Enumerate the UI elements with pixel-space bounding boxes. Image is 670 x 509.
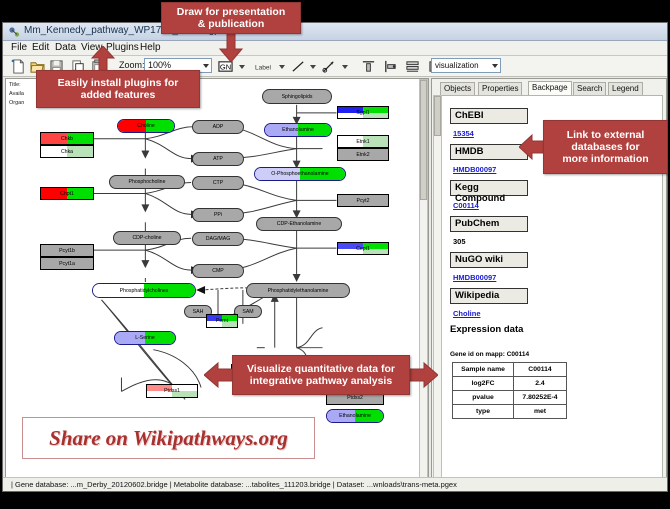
table-row: pvalue 7.80252E-4: [453, 391, 567, 405]
callout-visualize-left-arrow-icon: [204, 361, 234, 389]
expr-cell-label-3: type: [453, 405, 514, 419]
callout-plugins: Easily install plugins for added feature…: [36, 70, 200, 108]
expression-data-header: Expression data: [450, 324, 523, 335]
menu-data[interactable]: Data: [53, 42, 78, 53]
expr-cell-value-0: C00114: [514, 363, 567, 377]
node-phosphocholine[interactable]: Phosphocholine: [109, 175, 185, 189]
node-cdp-choline[interactable]: CDP-choline: [113, 231, 181, 245]
side-panel-vertical-scrollbar[interactable]: [433, 95, 442, 487]
line-dropdown-icon[interactable]: [310, 65, 316, 69]
title-bar: Mm_Kennedy_pathway_WP1771_45176.gpml: [3, 23, 667, 41]
callout-draw-line2: & publication: [198, 18, 265, 30]
expression-table: Sample name C00114 log2FC 2.4 pvalue 7.8…: [452, 362, 567, 419]
tab-legend[interactable]: Legend: [608, 82, 643, 95]
node-choline-top[interactable]: Choline: [117, 119, 175, 133]
callout-link-line3: more information: [562, 153, 648, 165]
pubchem-value: 305: [453, 237, 466, 246]
node-chkb[interactable]: Chkb: [40, 132, 94, 145]
align-left-icon[interactable]: [383, 59, 398, 74]
new-file-icon[interactable]: [11, 59, 26, 74]
svg-text:GN: GN: [220, 62, 231, 71]
align-top-icon[interactable]: [361, 59, 376, 74]
expr-cell-label-0: Sample name: [453, 363, 514, 377]
share-banner: Share on Wikipathways.org: [22, 417, 315, 459]
datanode-dropdown-icon[interactable]: [239, 65, 245, 69]
table-row: type met: [453, 405, 567, 419]
tab-properties[interactable]: Properties: [478, 82, 522, 95]
expr-cell-value-2: 7.80252E-4: [514, 391, 567, 405]
node-sgpl1[interactable]: Sgpl1: [337, 106, 389, 119]
node-chka[interactable]: Chka: [40, 145, 94, 158]
callout-draw-arrow-icon: [219, 33, 243, 63]
node-pemt[interactable]: Pemt: [206, 314, 238, 328]
node-adp[interactable]: ADP: [192, 120, 244, 134]
status-bar: | Gene database: ...m_Derby_20120602.bri…: [3, 477, 667, 491]
pathvisio-icon: [8, 26, 20, 38]
callout-visualize: Visualize quantitative data for integrat…: [232, 355, 410, 395]
node-pcyt1a[interactable]: Pcyt1a: [40, 257, 94, 270]
wikipedia-header: Wikipedia: [450, 288, 528, 304]
hmdb-link[interactable]: HMDB00097: [453, 165, 496, 174]
screenshot-root: Mm_Kennedy_pathway_WP1771_45176.gpml Fil…: [0, 0, 670, 509]
canvas-label-availability: Availa: [9, 91, 24, 97]
table-row: log2FC 2.4: [453, 377, 567, 391]
label-dropdown-icon[interactable]: [279, 65, 285, 69]
chebi-link[interactable]: 15354: [453, 129, 474, 138]
canvas-vscroll-thumb[interactable]: [420, 80, 427, 200]
callout-draw: Draw for presentation & publication: [161, 2, 301, 34]
node-sphingolipids[interactable]: Sphingolipids: [262, 89, 332, 104]
node-o-phosphoethanolamine[interactable]: O-Phosphoethanolamine: [254, 167, 346, 181]
node-ppi[interactable]: PPi: [192, 208, 244, 222]
node-ethanolamine-top[interactable]: Ethanolamine: [264, 123, 332, 137]
visualization-chevron-down-icon[interactable]: [492, 64, 498, 68]
node-etnk2[interactable]: Etnk2: [337, 148, 389, 161]
zoom-label: Zoom:: [119, 60, 145, 70]
canvas-label-title: Title:: [9, 82, 21, 88]
node-ethanolamine-bottom[interactable]: Ethanolamine: [326, 409, 384, 423]
callout-visualize-line2: integrative pathway analysis: [250, 375, 392, 387]
gene-id-on-mapp: Gene id on mapp: C00114: [450, 351, 529, 358]
share-banner-text: Share on Wikipathways.org: [49, 426, 288, 451]
visualization-value: visualization: [435, 61, 479, 70]
node-dagmag[interactable]: DAG/MAG: [192, 232, 244, 246]
expr-cell-label-2: pvalue: [453, 391, 514, 405]
table-row: Sample name C00114: [453, 363, 567, 377]
node-l-serine-left[interactable]: L-Serine: [114, 331, 176, 345]
callout-plugins-line2: added features: [81, 89, 156, 101]
chebi-header: ChEBI: [450, 108, 528, 124]
side-panel-vscroll-thumb[interactable]: [434, 96, 441, 136]
stack-icon[interactable]: [405, 59, 420, 74]
expr-cell-label-1: log2FC: [453, 377, 514, 391]
hmdb-header: HMDB: [450, 144, 528, 160]
node-cdp-ethanolamine[interactable]: CDP-Ethanolamine: [256, 217, 342, 231]
node-cept1[interactable]: Cept1: [337, 242, 389, 255]
menu-help[interactable]: Help: [138, 42, 163, 53]
callout-link-line2: databases for: [571, 141, 639, 153]
label-icon[interactable]: Label: [251, 59, 275, 74]
node-sam[interactable]: SAM: [234, 305, 262, 318]
callout-visualize-line1: Visualize quantitative data for: [247, 363, 395, 375]
chevron-down-icon[interactable]: [203, 64, 209, 68]
callout-link: Link to external databases for more info…: [543, 120, 668, 174]
node-ctp[interactable]: CTP: [192, 176, 244, 190]
wikipedia-link[interactable]: Choline: [453, 309, 481, 318]
svg-text:Label: Label: [255, 64, 272, 71]
status-text: | Gene database: ...m_Derby_20120602.bri…: [11, 480, 457, 489]
canvas-label-organism: Organ: [9, 100, 24, 106]
kegg-link[interactable]: C00114: [453, 201, 479, 210]
node-phosphatidylcholines[interactable]: Phosphatidylcholines: [92, 283, 196, 298]
tab-search[interactable]: Search: [573, 82, 606, 95]
expr-cell-value-3: met: [514, 405, 567, 419]
node-pcyt2[interactable]: Pcyt2: [337, 194, 389, 207]
callout-draw-line1: Draw for presentation: [177, 6, 286, 18]
node-phosphatidylethanolamine[interactable]: Phosphatidylethanolamine: [246, 283, 350, 298]
expr-cell-value-1: 2.4: [514, 377, 567, 391]
node-chpt1[interactable]: Chpt1: [40, 187, 94, 200]
zoom-value: 100%: [148, 60, 171, 70]
tab-objects[interactable]: Objects: [440, 82, 475, 95]
visualization-combobox[interactable]: visualization: [431, 58, 501, 73]
tab-backpage[interactable]: Backpage: [528, 81, 572, 95]
callout-plugins-line1: Easily install plugins for: [58, 77, 179, 89]
canvas-vertical-scrollbar[interactable]: [419, 79, 428, 480]
node-atp[interactable]: ATP: [192, 152, 244, 166]
interaction-dropdown-icon[interactable]: [342, 65, 348, 69]
node-pcyt1b[interactable]: Pcyt1b: [40, 244, 94, 257]
nugowiki-link[interactable]: HMDB00097: [453, 273, 496, 282]
nugowiki-header: NuGO wiki: [450, 252, 528, 268]
callout-visualize-right-arrow-icon: [408, 361, 438, 389]
menu-file[interactable]: File: [9, 42, 29, 53]
interaction-icon[interactable]: [322, 59, 337, 74]
node-ptdss1[interactable]: Ptdss1: [146, 384, 198, 398]
kegg-header: Kegg Compound: [450, 180, 528, 196]
node-cmp[interactable]: CMP: [192, 264, 244, 278]
line-icon[interactable]: [291, 59, 306, 74]
node-etnk1[interactable]: Etnk1: [337, 135, 389, 148]
menu-edit[interactable]: Edit: [30, 42, 51, 53]
pubchem-header: PubChem: [450, 216, 528, 232]
callout-link-line1: Link to external: [567, 129, 645, 141]
